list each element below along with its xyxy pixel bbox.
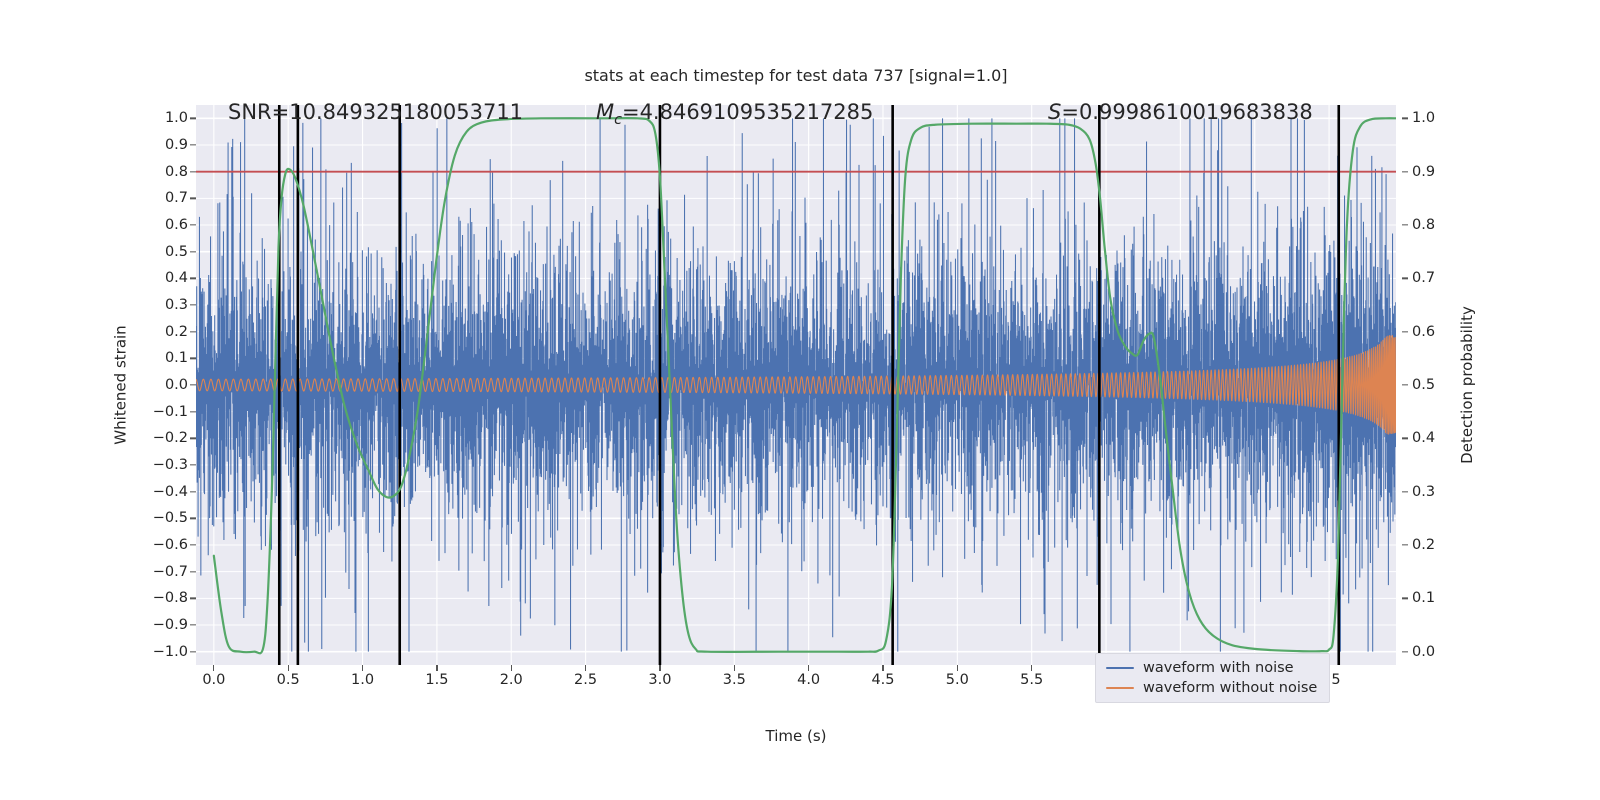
y-tick-label-right: 0.5 — [1412, 377, 1435, 393]
y-tick-label-left: 0.7 — [165, 190, 188, 206]
y-axis-label-left: Whitened strain — [110, 105, 132, 665]
x-tick-label: 0.5 — [277, 672, 300, 688]
y-tick-label-right: 0.8 — [1412, 217, 1435, 233]
x-tick-label: 3.5 — [723, 672, 746, 688]
x-tick-mark — [659, 665, 660, 671]
legend: waveform with noisewaveform without nois… — [1095, 653, 1330, 703]
y-tick-label-left: 0.9 — [165, 137, 188, 153]
y-tick-label-right: 0.1 — [1412, 590, 1435, 606]
x-tick-label: 1.0 — [351, 672, 374, 688]
y-tick-label-left: −0.6 — [153, 537, 188, 553]
y-tick-label-left: 1.0 — [165, 110, 188, 126]
x-tick-label: 3.0 — [648, 672, 671, 688]
plot-canvas — [196, 105, 1396, 665]
legend-label: waveform without noise — [1143, 680, 1317, 696]
legend-swatch — [1106, 687, 1134, 690]
annotation-mc-value: =4.8469109535217285 — [622, 100, 873, 124]
y-tick-label-left: 0.0 — [165, 377, 188, 393]
y-tick-label-left: 0.4 — [165, 270, 188, 286]
y-tick-label-right: 0.2 — [1412, 537, 1435, 553]
y-tick-mark-right — [1402, 278, 1408, 279]
x-tick-label: 1.5 — [425, 672, 448, 688]
legend-swatch — [1106, 667, 1134, 670]
y-tick-label-left: −0.2 — [153, 430, 188, 446]
annotation-s-symbol: S — [1048, 100, 1061, 124]
legend-item: waveform with noise — [1106, 660, 1317, 676]
annotation-snr: SNR=10.849325180053711 — [228, 100, 523, 124]
x-tick-mark — [585, 665, 586, 671]
y-axis-label-right-text: Detection probability — [1458, 306, 1476, 464]
y-tick-mark-right — [1402, 651, 1408, 652]
y-tick-label-right: 0.4 — [1412, 430, 1435, 446]
y-tick-label-left: −0.3 — [153, 457, 188, 473]
y-tick-mark-right — [1402, 438, 1408, 439]
x-tick-mark — [362, 665, 363, 671]
x-tick-mark — [436, 665, 437, 671]
y-tick-mark-right — [1402, 544, 1408, 545]
annotation-s-value: =0.9998610019683838 — [1061, 100, 1312, 124]
y-tick-label-left: −0.9 — [153, 617, 188, 633]
y-tick-label-left: −0.8 — [153, 590, 188, 606]
x-tick-mark — [511, 665, 512, 671]
y-tick-label-left: −0.5 — [153, 510, 188, 526]
x-tick-mark — [882, 665, 883, 671]
y-tick-label-right: 0.6 — [1412, 324, 1435, 340]
annotation-s: S=0.9998610019683838 — [1048, 100, 1313, 124]
y-tick-label-right: 0.3 — [1412, 484, 1435, 500]
y-tick-label-left: −0.1 — [153, 404, 188, 420]
y-tick-mark-right — [1402, 118, 1408, 119]
y-tick-label-left: −0.7 — [153, 564, 188, 580]
legend-label: waveform with noise — [1143, 660, 1294, 676]
y-tick-mark-right — [1402, 224, 1408, 225]
y-tick-mark-right — [1402, 598, 1408, 599]
y-tick-label-left: 0.2 — [165, 324, 188, 340]
y-tick-label-right: 0.0 — [1412, 644, 1435, 660]
x-tick-label: 5.0 — [946, 672, 969, 688]
x-tick-mark — [734, 665, 735, 671]
x-tick-mark — [288, 665, 289, 671]
x-tick-mark — [808, 665, 809, 671]
x-tick-label: 4.0 — [797, 672, 820, 688]
y-tick-label-right: 0.9 — [1412, 164, 1435, 180]
y-tick-label-right: 1.0 — [1412, 110, 1435, 126]
x-tick-mark — [1031, 665, 1032, 671]
y-tick-label-left: 0.5 — [165, 244, 188, 260]
annotation-mc: Mc=4.8469109535217285 — [596, 100, 873, 128]
x-axis-label: Time (s) — [196, 727, 1396, 745]
x-tick-label: 5.5 — [1020, 672, 1043, 688]
y-tick-mark-right — [1402, 171, 1408, 172]
y-tick-label-left: −0.4 — [153, 484, 188, 500]
matplotlib-figure: stats at each timestep for test data 737… — [0, 0, 1600, 800]
plot-area — [196, 105, 1396, 665]
x-tick-label: 2.5 — [574, 672, 597, 688]
page-title: stats at each timestep for test data 737… — [196, 66, 1396, 85]
y-tick-label-left: 0.3 — [165, 297, 188, 313]
y-tick-label-right: 0.7 — [1412, 270, 1435, 286]
y-tick-mark-right — [1402, 491, 1408, 492]
legend-item: waveform without noise — [1106, 680, 1317, 696]
x-tick-label: 4.5 — [871, 672, 894, 688]
y-tick-label-left: 0.6 — [165, 217, 188, 233]
y-axis-label-left-text: Whitened strain — [112, 325, 130, 444]
y-tick-label-left: 0.1 — [165, 350, 188, 366]
annotation-mc-symbol: M — [596, 100, 614, 124]
y-axis-label-right: Detection probability — [1456, 105, 1478, 665]
y-tick-label-left: −1.0 — [153, 644, 188, 660]
x-tick-mark — [213, 665, 214, 671]
y-tick-mark-right — [1402, 331, 1408, 332]
x-tick-label: 0.0 — [202, 672, 225, 688]
x-tick-label: 2.0 — [500, 672, 523, 688]
annotation-mc-subscript: c — [614, 112, 622, 128]
x-tick-mark — [957, 665, 958, 671]
y-tick-label-left: 0.8 — [165, 164, 188, 180]
y-tick-mark-right — [1402, 384, 1408, 385]
annotation-snr-value: SNR=10.849325180053711 — [228, 100, 523, 124]
